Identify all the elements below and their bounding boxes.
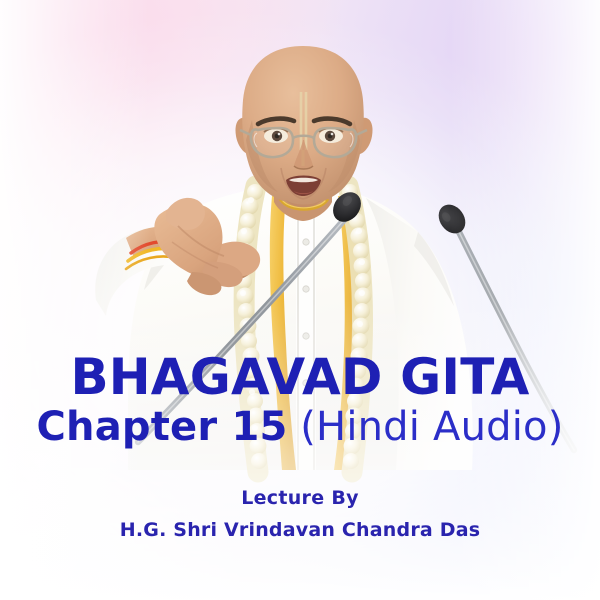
kurta-button: [303, 239, 309, 245]
poster-canvas: BHAGAVAD GITA Chapter 15 (Hindi Audio) L…: [0, 0, 600, 600]
speaker-photo: [0, 0, 600, 600]
kurta-button: [303, 286, 309, 292]
photo-fade-right: [450, 0, 600, 600]
photo-fade-left: [0, 0, 150, 600]
